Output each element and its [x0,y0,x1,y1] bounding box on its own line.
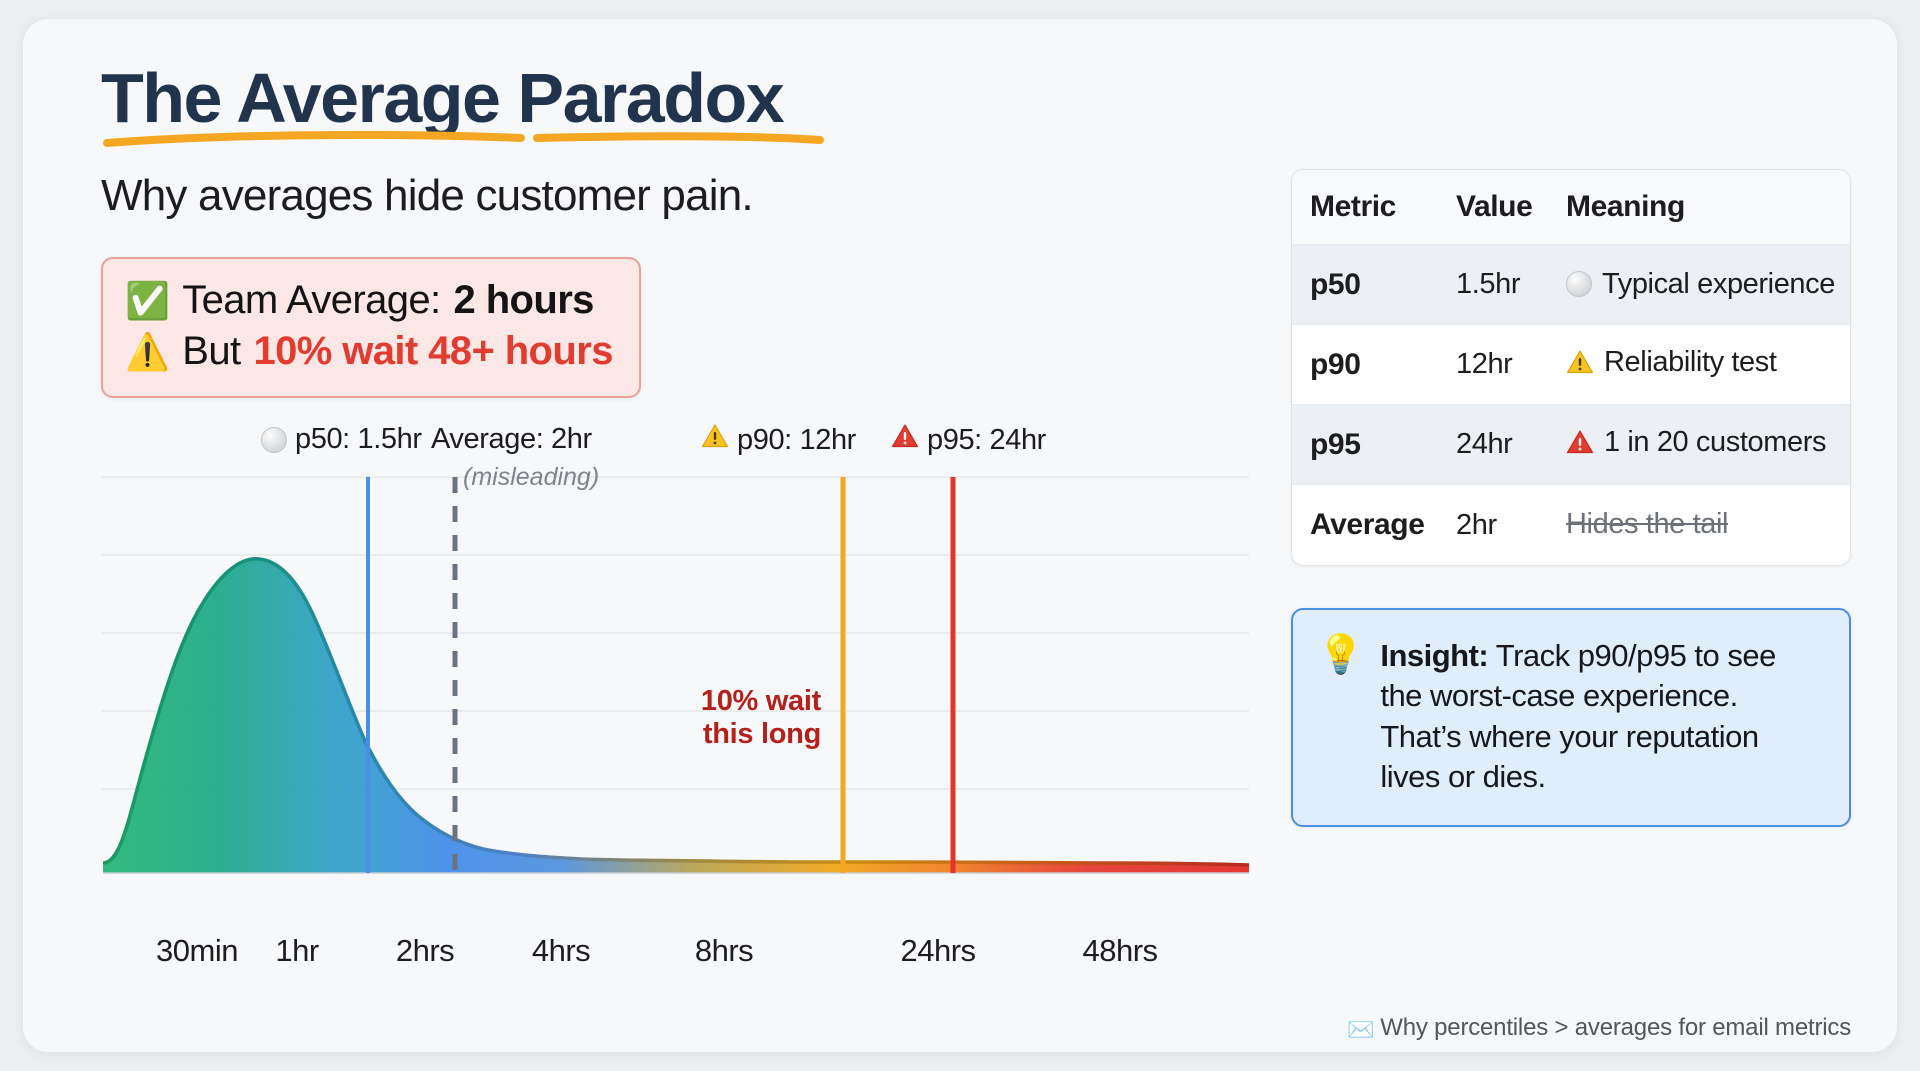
row-meaning-p90: Reliability test [1562,332,1850,398]
marker-label-p50: p50: 1.5hr [261,423,422,456]
table-header-row: Metric Value Meaning [1292,170,1850,245]
row-meaning-p95-text: 1 in 20 customers [1604,426,1826,460]
callout-line-warning: ⚠️ But 10% wait 48+ hours [125,326,613,377]
x-tick-1: 1hr [275,933,318,969]
marker-label-p95-text: p95: 24hr [927,424,1046,457]
page-title: The Average Paradox [101,61,783,135]
row-value-p50: 1.5hr [1452,254,1562,315]
metrics-table: Metric Value Meaning p50 1.5hr Typical e… [1291,169,1851,566]
marker-sublabel-misleading: (misleading) [463,463,599,492]
callout-average-label: Team Average: [182,275,440,326]
callout-warning-value: 10% wait 48+ hours [253,326,612,377]
marker-label-average-text: Average: 2hr [431,423,592,456]
marker-label-p90: p90: 12hr [701,423,856,457]
red-warning-icon [891,423,919,457]
footer-note: ✉️Why percentiles > averages for email m… [1291,1014,1851,1042]
right-column: Metric Value Meaning p50 1.5hr Typical e… [1291,169,1851,827]
x-tick-3: 4hrs [532,933,590,969]
envelope-icon: ✉️ [1347,1019,1374,1041]
table-row: p50 1.5hr Typical experience [1292,245,1850,325]
chart-x-axis: 30min 1hr 2hrs 4hrs 8hrs 24hrs 48hrs [101,933,1251,983]
table-row: Average 2hr Hides the tail [1292,485,1850,565]
row-value-average: 2hr [1452,495,1562,556]
callout-average-value: 2 hours [454,275,594,326]
page-subtitle: Why averages hide customer pain. [101,171,1251,221]
row-value-p95: 24hr [1452,414,1562,475]
check-mark-icon: ✅ [125,283,169,319]
lightbulb-icon: 💡 [1317,636,1364,797]
infographic-card: The Average Paradox Why averages hide cu… [22,18,1898,1053]
yellow-warning-icon [701,423,729,457]
marker-label-average: Average: 2hr [431,423,592,456]
marker-label-p50-text: p50: 1.5hr [295,423,422,456]
row-meaning-p50: Typical experience [1562,254,1850,316]
callout-line-average: ✅ Team Average: 2 hours [125,275,613,326]
title-block: The Average Paradox [101,61,783,135]
tail-annotation-line2: this long [631,718,821,751]
x-tick-4: 8hrs [695,933,753,969]
gray-dot-icon [261,427,287,453]
warning-icon: ⚠️ [125,334,169,370]
row-meaning-p50-text: Typical experience [1602,268,1835,302]
tail-annotation: 10% wait this long [631,685,821,751]
left-column: The Average Paradox Why averages hide cu… [101,61,1251,1021]
x-tick-0: 30min [156,933,238,969]
insight-box: 💡 Insight: Track p90/p95 to see the wors… [1291,608,1851,827]
row-meaning-average-text: Hides the tail [1566,508,1728,542]
callout-warning-label: But [182,326,240,377]
footer-text: Why percentiles > averages for email met… [1380,1014,1851,1041]
table-header-value: Value [1452,170,1562,244]
x-tick-5: 24hrs [900,933,975,969]
red-warning-icon [1566,429,1594,464]
average-paradox-callout: ✅ Team Average: 2 hours ⚠️ But 10% wait … [101,257,641,397]
row-meaning-p95: 1 in 20 customers [1562,412,1850,478]
marker-label-p95: p95: 24hr [891,423,1046,457]
row-meaning-p90-text: Reliability test [1604,346,1777,380]
insight-text: Insight: Track p90/p95 to see the worst-… [1380,636,1823,797]
row-meaning-average: Hides the tail [1562,494,1850,556]
row-metric-p90: p90 [1292,334,1452,396]
row-metric-p50: p50 [1292,254,1452,316]
x-tick-6: 48hrs [1082,933,1157,969]
row-metric-average: Average [1292,494,1452,556]
table-header-metric: Metric [1292,170,1452,244]
table-header-meaning: Meaning [1562,170,1850,244]
tail-annotation-line1: 10% wait [631,685,821,718]
gray-dot-icon [1566,271,1592,297]
insight-label: Insight: [1380,638,1488,673]
marker-label-p90-text: p90: 12hr [737,424,856,457]
distribution-chart: p50: 1.5hr Average: 2hr (misleading) p90… [101,455,1251,925]
row-value-p90: 12hr [1452,334,1562,395]
x-tick-2: 2hrs [396,933,454,969]
table-row: p90 12hr Reliability test [1292,325,1850,405]
row-metric-p95: p95 [1292,414,1452,476]
table-row: p95 24hr 1 in 20 customers [1292,405,1850,485]
yellow-warning-icon [1566,349,1594,384]
